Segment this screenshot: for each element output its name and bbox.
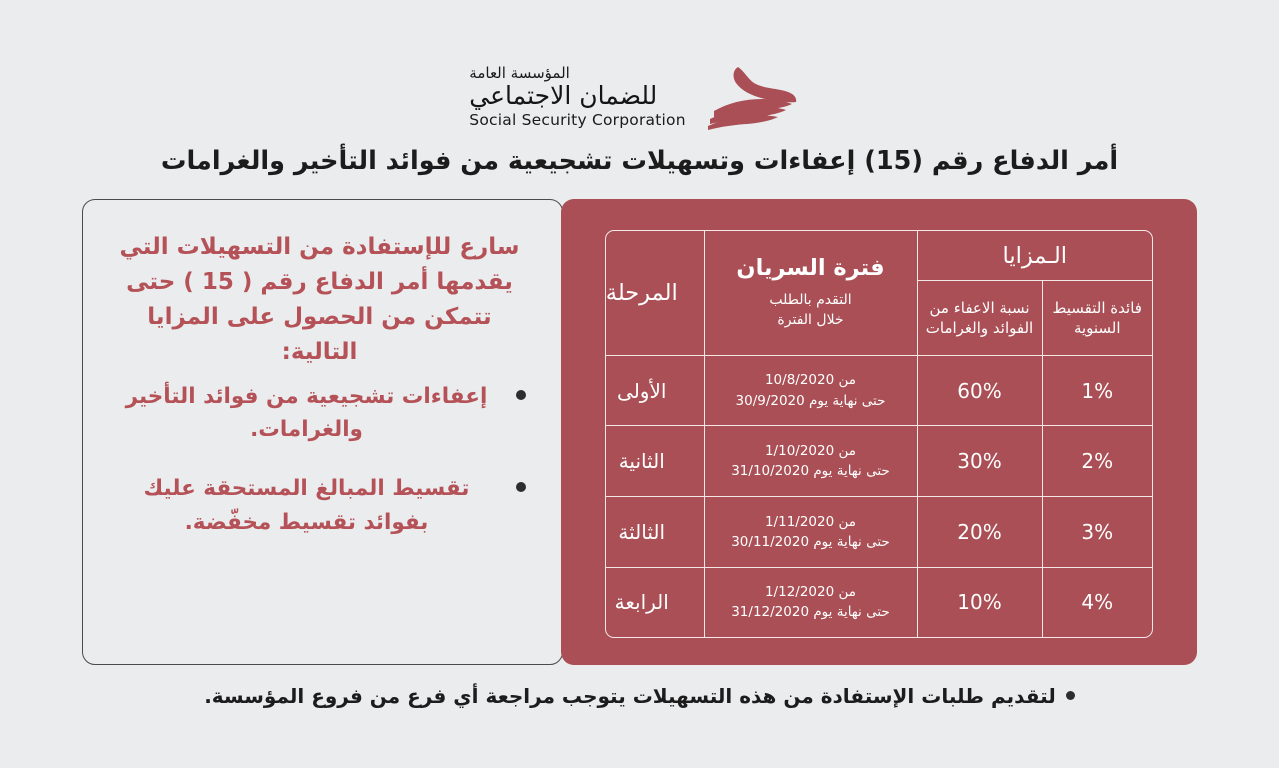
page-title: أمر الدفاع رقم (15) إعفاءات وتسهيلات تشج… [0,146,1279,176]
cell-exemption-rate: 20% [917,497,1042,568]
cell-period: من 1/11/2020 حتى نهاية يوم 30/11/2020 [704,497,917,568]
bullet-dot-icon [1066,691,1075,700]
header-period-main: فترة السريان [708,255,914,281]
cell-period-to: حتى نهاية يوم 30/11/2020 [708,532,914,552]
ssc-bird-wing-logo-icon [700,61,810,133]
brand-english-name: Social Security Corporation [469,112,685,129]
header-stage: المرحلة [605,231,704,355]
list-item-label: تقسيط المبالغ المستحقة عليك بفوائد تقسيط… [144,476,470,534]
cell-exemption-rate: 10% [917,567,1042,637]
info-lead-text: سارع للإستفادة من التسهيلات التي يقدمها … [113,230,526,370]
cell-exemption-rate: 60% [917,355,1042,426]
cell-exemption-rate: 30% [917,426,1042,497]
list-item-label: إعفاءات تشجيعية من فوائد التأخير والغرام… [126,384,488,442]
cell-installment-benefit: 4% [1042,567,1152,637]
cell-installment-benefit: 2% [1042,426,1152,497]
brand-header: المؤسسة العامة للضمان الاجتماعي Social S… [0,52,1279,142]
cell-period-to: حتى نهاية يوم 31/10/2020 [708,461,914,481]
header-period: فترة السريان التقدم بالطلب خلال الفترة [704,231,917,355]
footnote: لتقديم طلبات الإستفادة من هذه التسهيلات … [0,684,1279,708]
facility-table-panel: الـمزايا فترة السريان التقدم بالطلب خلال… [561,199,1197,665]
header-benefits-group: الـمزايا [917,231,1152,281]
bullet-dot-icon [516,390,526,400]
cell-period: من 1/12/2020 حتى نهاية يوم 31/12/2020 [704,567,917,637]
cell-period: من 10/8/2020 حتى نهاية يوم 30/9/2020 [704,355,917,426]
cell-stage: الثالثة [605,497,704,568]
table-row: 3% 20% من 1/11/2020 حتى نهاية يوم 30/11/… [605,497,1152,568]
footnote-label: لتقديم طلبات الإستفادة من هذه التسهيلات … [204,684,1056,708]
cell-stage: الثانية [605,426,704,497]
cell-period-from: من 1/11/2020 [708,512,914,532]
bullet-dot-icon [516,482,526,492]
cell-period-to: حتى نهاية يوم 31/12/2020 [708,602,914,622]
cell-stage: الأولى [605,355,704,426]
list-item: إعفاءات تشجيعية من فوائد التأخير والغرام… [113,380,526,447]
table-row: 4% 10% من 1/12/2020 حتى نهاية يوم 31/12/… [605,567,1152,637]
table-row: 2% 30% من 1/10/2020 حتى نهاية يوم 31/10/… [605,426,1152,497]
benefits-bullet-list: إعفاءات تشجيعية من فوائد التأخير والغرام… [113,380,526,565]
cell-period-from: من 1/10/2020 [708,441,914,461]
brand-text: المؤسسة العامة للضمان الاجتماعي Social S… [469,65,685,129]
header-installment-benefit: فائدة التقسيط السنوية [1042,281,1152,355]
facility-table: الـمزايا فترة السريان التقدم بالطلب خلال… [605,231,1152,637]
cell-period-from: من 1/12/2020 [708,582,914,602]
header-exemption-rate: نسبة الاعفاء من الفوائد والغرامات [917,281,1042,355]
cell-period-from: من 10/8/2020 [708,370,914,390]
table-row: 1% 60% من 10/8/2020 حتى نهاية يوم 30/9/2… [605,355,1152,426]
content-panels: الـمزايا فترة السريان التقدم بالطلب خلال… [82,199,1197,665]
table-header-row-top: الـمزايا فترة السريان التقدم بالطلب خلال… [605,231,1152,281]
brand-arabic-line2: للضمان الاجتماعي [469,82,657,109]
benefits-info-panel: سارع للإستفادة من التسهيلات التي يقدمها … [82,199,563,665]
cell-stage: الرابعة [605,567,704,637]
facility-table-border: الـمزايا فترة السريان التقدم بالطلب خلال… [605,230,1153,638]
cell-period-to: حتى نهاية يوم 30/9/2020 [708,391,914,411]
cell-installment-benefit: 1% [1042,355,1152,426]
cell-period: من 1/10/2020 حتى نهاية يوم 31/10/2020 [704,426,917,497]
cell-installment-benefit: 3% [1042,497,1152,568]
brand-arabic-line1: المؤسسة العامة [469,65,570,81]
list-item: تقسيط المبالغ المستحقة عليك بفوائد تقسيط… [113,472,526,539]
header-period-sub-line1: التقدم بالطلب [708,290,914,310]
header-period-sub-line2: خلال الفترة [708,310,914,330]
